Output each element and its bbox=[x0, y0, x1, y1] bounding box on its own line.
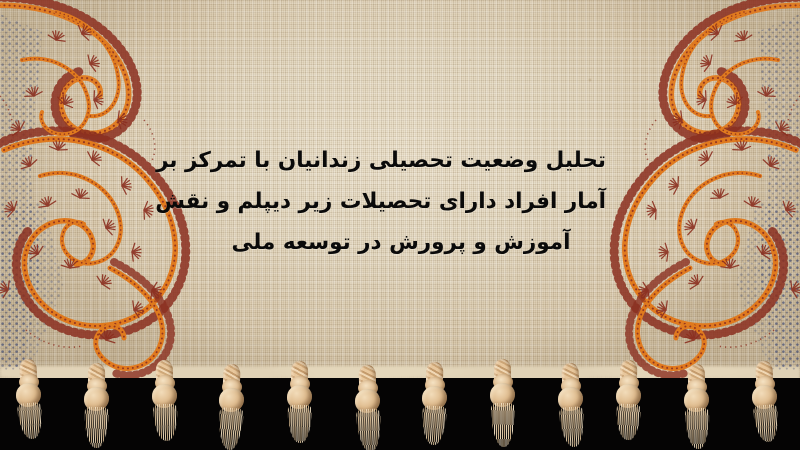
tassel-skirt bbox=[356, 408, 382, 450]
fringe-tassel bbox=[209, 364, 255, 450]
fringe-tassel bbox=[277, 361, 323, 449]
tassel-skirt bbox=[559, 406, 585, 447]
fringe-tassel bbox=[480, 359, 526, 447]
tassel-skirt bbox=[491, 403, 515, 447]
tassel-skirt bbox=[616, 403, 642, 440]
page-title: تحلیل وضعیت تحصیلی زندانیان با تمرکز بر … bbox=[196, 140, 606, 263]
fringe-tassel bbox=[74, 363, 120, 450]
fringe-tassel bbox=[345, 365, 391, 450]
tassel-skirt bbox=[287, 405, 312, 443]
fringe-tassel bbox=[548, 363, 594, 450]
tassel-skirt bbox=[84, 407, 109, 449]
fringe-tassel bbox=[142, 360, 188, 448]
knotted-tassel-fringe bbox=[0, 362, 800, 450]
title-line-3: آموزش و پرورش در توسعه ملی bbox=[196, 222, 606, 263]
tassel-skirt bbox=[421, 405, 447, 445]
tassel-skirt bbox=[153, 404, 178, 442]
fringe-tassel bbox=[742, 361, 788, 449]
tassel-skirt bbox=[753, 404, 780, 443]
tassel-skirt bbox=[685, 408, 710, 449]
tassel-skirt bbox=[217, 407, 244, 450]
fringe-tassel bbox=[606, 360, 652, 448]
fringe-tassel bbox=[6, 359, 52, 447]
title-line-2: آمار افراد دارای تحصیلات زیر دیپلم و نقش bbox=[196, 181, 606, 222]
fringe-tassel bbox=[412, 362, 458, 450]
tassel-skirt bbox=[17, 402, 44, 440]
title-card: تحلیل وضعیت تحصیلی زندانیان با تمرکز بر … bbox=[0, 0, 800, 450]
fringe-tassel bbox=[674, 364, 720, 450]
title-line-1: تحلیل وضعیت تحصیلی زندانیان با تمرکز بر bbox=[196, 140, 606, 181]
